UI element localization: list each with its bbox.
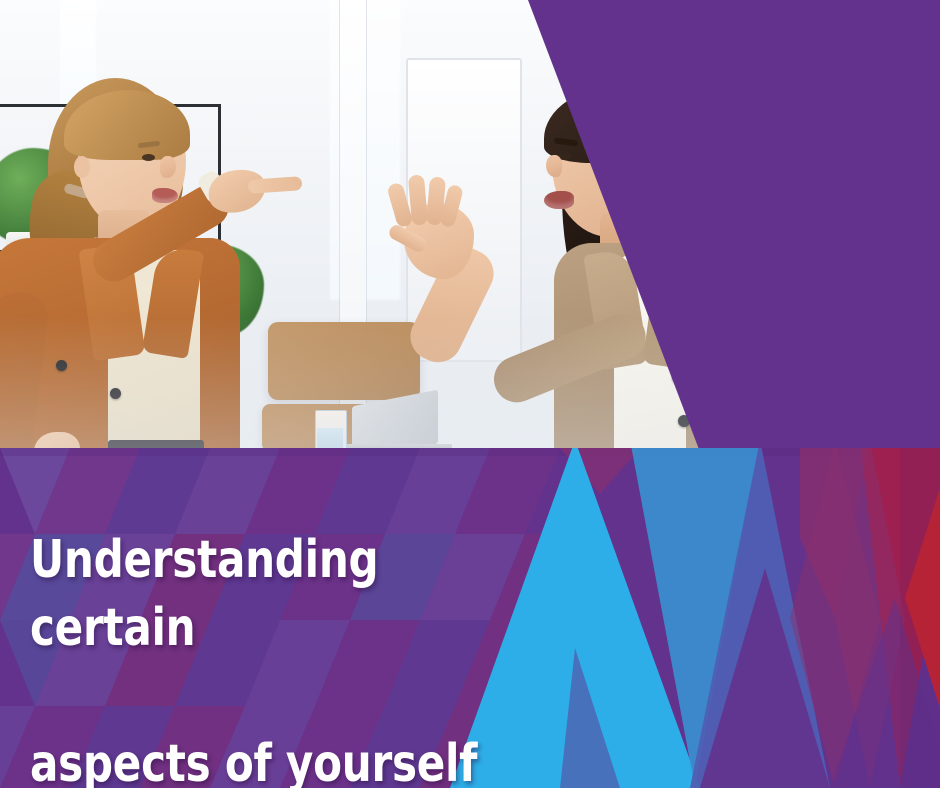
quote-poster: Understanding certain aspects of yoursel… bbox=[0, 0, 940, 788]
woman-right-ear bbox=[626, 159, 642, 181]
page-title: Understanding certain aspects of yoursel… bbox=[30, 458, 534, 788]
woman-right-button-lower bbox=[678, 415, 690, 427]
woman-left-button-lower bbox=[110, 388, 121, 399]
woman-left-ear bbox=[74, 156, 90, 178]
woman-right-nose bbox=[546, 155, 562, 177]
headline-line-2: aspects of yourself can bbox=[30, 730, 534, 788]
woman-left-eye bbox=[142, 154, 155, 161]
woman-right-button-upper bbox=[672, 371, 684, 383]
woman-left-button-upper bbox=[56, 360, 67, 371]
woman-right-mouth bbox=[544, 191, 574, 209]
photo-office-argument bbox=[0, 0, 940, 452]
headline-line-1: Understanding certain bbox=[30, 526, 534, 662]
woman-right bbox=[500, 55, 820, 452]
woman-left-pointing-finger bbox=[248, 176, 303, 194]
woman-left bbox=[0, 60, 330, 452]
